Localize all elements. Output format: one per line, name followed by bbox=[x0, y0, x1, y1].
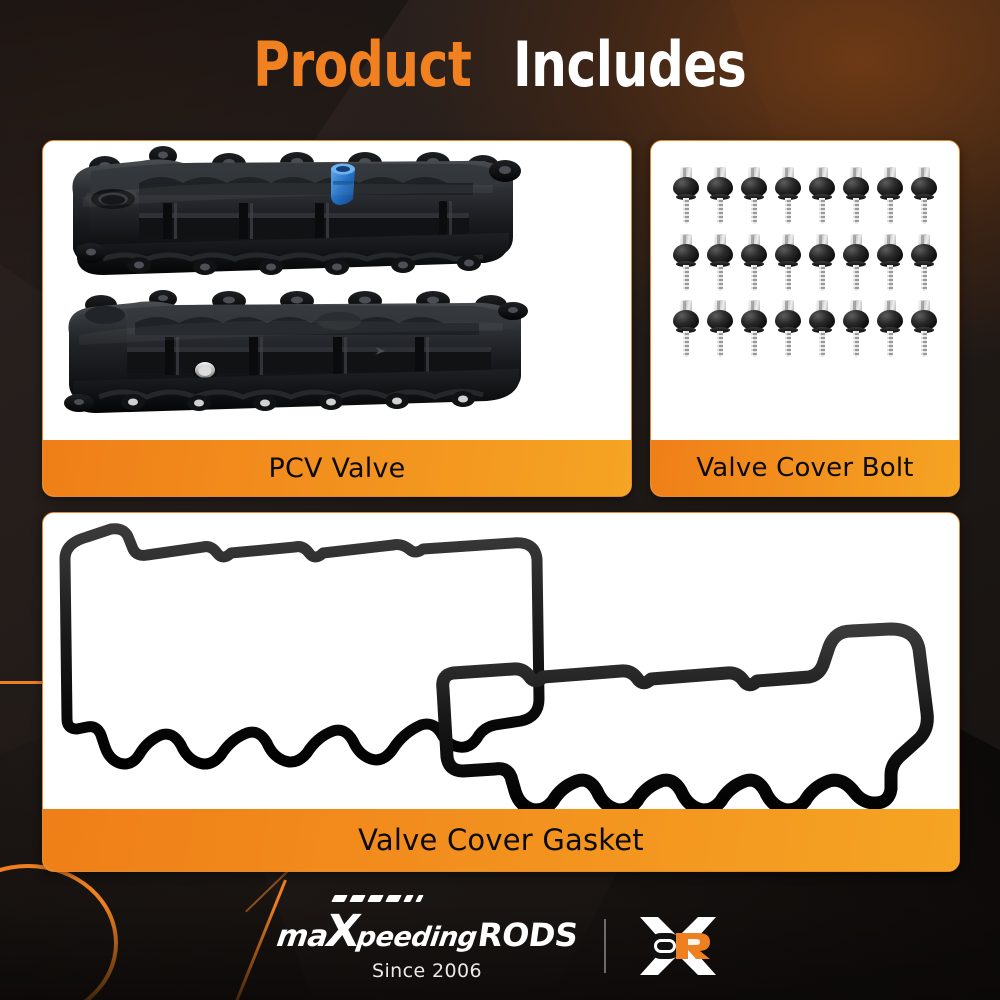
badge-r-shape bbox=[676, 933, 710, 959]
bolt bbox=[741, 234, 767, 294]
bolt bbox=[775, 234, 801, 294]
pcv-valve-image bbox=[43, 141, 631, 440]
footer-divider bbox=[604, 919, 606, 973]
bolt bbox=[843, 300, 869, 360]
bolt-threaded-shaft bbox=[683, 198, 689, 224]
bolt-threaded-shaft bbox=[717, 331, 723, 357]
bolt-threaded-shaft bbox=[887, 198, 893, 224]
valve-cover-bolt-image bbox=[651, 141, 959, 440]
brand-logo: ma X peeding RODS Since 2006 bbox=[277, 910, 578, 982]
card-label-valve-cover-gasket: Valve Cover Gasket bbox=[43, 809, 959, 871]
bolt-threaded-shaft bbox=[921, 198, 927, 224]
brand-tagline: Since 2006 bbox=[372, 960, 482, 982]
bolt bbox=[911, 167, 937, 227]
bolt bbox=[673, 234, 699, 294]
bolt bbox=[775, 167, 801, 227]
brand-wordmark: ma X peeding RODS bbox=[277, 910, 578, 954]
bolt bbox=[809, 167, 835, 227]
bolt-threaded-shaft bbox=[717, 265, 723, 291]
bolt-threaded-shaft bbox=[819, 198, 825, 224]
bolt-threaded-shaft bbox=[751, 198, 757, 224]
bolt-threaded-shaft bbox=[751, 265, 757, 291]
brand-text-rods: RODS bbox=[476, 919, 580, 951]
bolt bbox=[877, 167, 903, 227]
valve-cover-gasket-image bbox=[43, 513, 959, 809]
bolt-threaded-shaft bbox=[819, 331, 825, 357]
bolt-threaded-shaft bbox=[853, 265, 859, 291]
bolt bbox=[877, 234, 903, 294]
brand-text-peeding: peeding bbox=[356, 924, 479, 951]
bolt bbox=[673, 300, 699, 360]
footer: ma X peeding RODS Since 2006 bbox=[0, 906, 1000, 986]
bolt-threaded-shaft bbox=[785, 265, 791, 291]
bolt-threaded-shaft bbox=[785, 198, 791, 224]
bolt bbox=[673, 167, 699, 227]
brand-text-ma: ma bbox=[274, 922, 329, 952]
card-label-pcv-valve: PCV Valve bbox=[43, 440, 631, 496]
bolt bbox=[707, 300, 733, 360]
bolt-threaded-shaft bbox=[921, 265, 927, 291]
bolt-threaded-shaft bbox=[717, 198, 723, 224]
xor-badge-icon bbox=[632, 915, 724, 977]
bolt-threaded-shaft bbox=[819, 265, 825, 291]
bolt-threaded-shaft bbox=[853, 198, 859, 224]
bolt bbox=[809, 234, 835, 294]
product-card-valve-cover-gasket[interactable]: Valve Cover Gasket bbox=[42, 512, 960, 872]
bolt bbox=[707, 234, 733, 294]
infographic-canvas: ProductIncludes bbox=[0, 0, 1000, 1000]
secondary-brand-badge bbox=[632, 915, 724, 977]
bolt bbox=[843, 167, 869, 227]
product-card-valve-cover-bolt[interactable]: Valve Cover Bolt bbox=[650, 140, 960, 497]
bolt-grid bbox=[669, 167, 941, 367]
bolt bbox=[707, 167, 733, 227]
bolt bbox=[741, 167, 767, 227]
bolt bbox=[843, 234, 869, 294]
gasket-upper-left bbox=[65, 529, 539, 764]
valve-cover-upper bbox=[72, 146, 521, 275]
valve-cover-illustration bbox=[43, 141, 631, 439]
bolt-threaded-shaft bbox=[683, 265, 689, 291]
title-word-includes: Includes bbox=[513, 34, 746, 96]
product-card-pcv-valve[interactable]: PCV Valve bbox=[42, 140, 632, 497]
bolt bbox=[911, 234, 937, 294]
title-word-product: Product bbox=[253, 34, 471, 96]
bolt bbox=[775, 300, 801, 360]
bolt-threaded-shaft bbox=[853, 331, 859, 357]
bolt-threaded-shaft bbox=[751, 331, 757, 357]
page-title: ProductIncludes bbox=[0, 34, 1000, 96]
bolt-threaded-shaft bbox=[921, 331, 927, 357]
bolt-threaded-shaft bbox=[785, 331, 791, 357]
valve-cover-lower bbox=[64, 290, 528, 413]
card-label-valve-cover-bolt: Valve Cover Bolt bbox=[651, 440, 959, 496]
bolt bbox=[809, 300, 835, 360]
gasket-illustration bbox=[43, 513, 959, 809]
bolt bbox=[741, 300, 767, 360]
bolt bbox=[911, 300, 937, 360]
bolt-threaded-shaft bbox=[683, 331, 689, 357]
speed-streaks-icon bbox=[333, 895, 422, 902]
bolt-threaded-shaft bbox=[887, 331, 893, 357]
bolt-threaded-shaft bbox=[887, 265, 893, 291]
bolt bbox=[877, 300, 903, 360]
